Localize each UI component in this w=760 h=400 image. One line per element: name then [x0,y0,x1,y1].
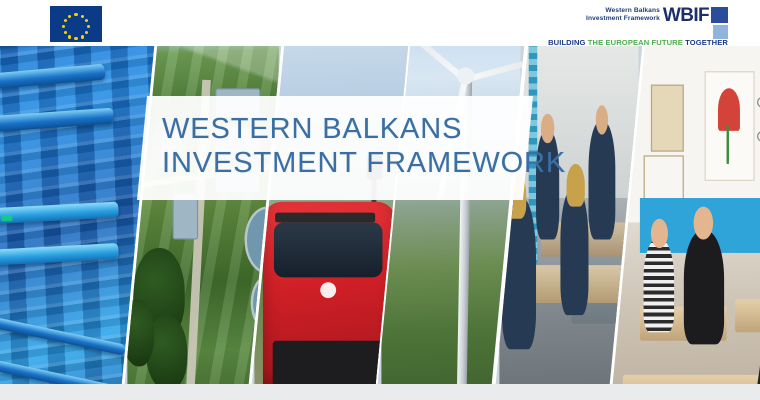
wbif-subtitle-line-2: Investment Framework [586,15,660,24]
header-bar: Western Balkans Investment Framework WBI… [0,0,760,46]
page-title-line-1: WESTERN BALKANS [162,112,542,146]
wbif-logo-subtitle: Western Balkans Investment Framework [586,7,663,24]
eu-flag-icon [50,6,102,42]
wbif-logo-top-row: Western Balkans Investment Framework WBI… [560,4,728,26]
slide-root: Western Balkans Investment Framework WBI… [0,0,760,400]
page-title-line-2: INVESTMENT FRAMEWORK [162,146,542,180]
wbif-dark-square-icon [711,7,728,23]
wbif-tagline: BUILDING THE EUROPEAN FUTURE TOGETHER [548,38,728,47]
wbif-subtitle-line-1: Western Balkans [586,7,660,16]
footer-strip [0,384,760,400]
wbif-acronym: WBIF [663,6,709,25]
page-title: WESTERN BALKANS INVESTMENT FRAMEWORK [162,112,542,180]
eu-flag-stars [50,6,102,42]
tagline-part-together: TOGETHER [685,38,728,47]
wbif-logo: Western Balkans Investment Framework WBI… [560,4,728,44]
wbif-light-square-icon [713,25,728,39]
hero-photo-strip [0,42,760,387]
tagline-part-european-future: THE EUROPEAN FUTURE [588,38,685,47]
tagline-part-building: BUILDING [548,38,588,47]
